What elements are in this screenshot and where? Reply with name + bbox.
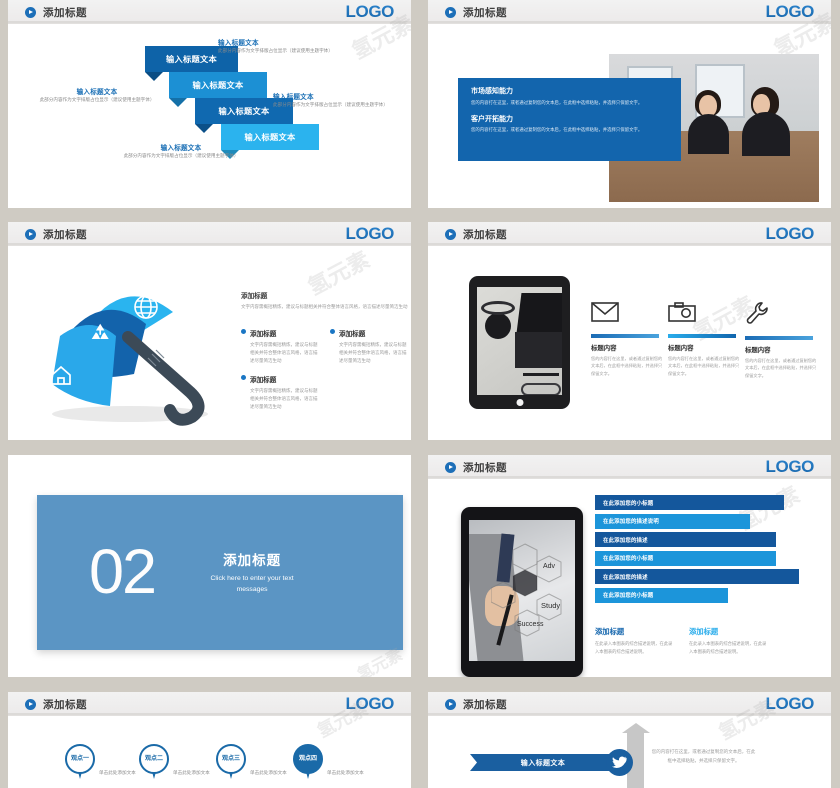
slide-body: 氢元素 — [428, 479, 831, 677]
chart-footnotes: 添加标题 在此录入本图表的综合描述说明，在此录入本图表的综合描述说明。 添加标题… — [595, 627, 767, 655]
capability-panel: 市场感知能力 您的内容打在这里，或者通过复制您的文本后，在此框中选择粘贴，并选择… — [458, 78, 681, 161]
pin-label: 观点四 — [293, 753, 323, 762]
tablet-screen — [477, 287, 562, 395]
slide-6-bar-chart[interactable]: 添加标题 LOGO 氢元素 — [428, 455, 831, 677]
slide-body: 氢元素 输入标题文本 输入标题文本 输入标题文本 输入标题文本 输入标题文本 此… — [8, 24, 411, 208]
bar-label: 在此添加您的描述说明 — [603, 517, 659, 525]
horizontal-bar-chart: 在此添加您的小标题 在此添加您的描述说明 在此添加您的描述 在此添加您的小标题 … — [595, 495, 810, 606]
slide-5-section-divider[interactable]: 02 添加标题 Click here to enter your text me… — [8, 455, 411, 677]
home-button[interactable] — [516, 399, 523, 406]
pin-caption-2: 单击此处添加文本 — [173, 770, 210, 776]
slide-header-bar: 添加标题 LOGO — [428, 222, 831, 246]
hexagon-network: Adv Study Success — [491, 538, 575, 658]
ribbon-description: 您的内容打在这里，或者通过复制您的文本后，在此框中选择粘贴，并选择只保留文字。 — [651, 748, 756, 765]
laptop-screen — [517, 293, 562, 333]
ribbon-banner[interactable]: 输入标题文本 — [470, 754, 616, 771]
logo: LOGO — [346, 694, 394, 714]
capability-title-2: 客户开拓能力 — [471, 114, 668, 124]
tablet-device: Adv Study Success — [461, 507, 583, 677]
icon-column-1[interactable]: 标题内容 您的内容打在这里，或者通过复制您的文本后，在此框中选择粘贴，并选择只保… — [591, 302, 663, 377]
capability-text-2: 您的内容打在这里，或者通过复制您的文本后，在此框中选择粘贴，并选择只保留文字。 — [471, 126, 668, 133]
header-underline — [428, 21, 831, 23]
chart-bar[interactable]: 在此添加您的小标题 — [595, 551, 776, 566]
bullet-item-3[interactable]: 添加标题 文字内容需概括精炼，建议与标题相关并符合整体语言风格，语言描述尽量简洁… — [241, 374, 319, 411]
page-title: 添加标题 — [463, 697, 507, 712]
pin-label: 观点二 — [139, 753, 169, 762]
pin-marker-4[interactable]: 观点四 — [293, 744, 323, 774]
slide-header-bar: 添加标题 LOGO — [8, 0, 411, 24]
chart-bar[interactable]: 在此添加您的小标题 — [595, 495, 784, 510]
bullet-item-2[interactable]: 添加标题 文字内容需概括精炼，建议与标题相关并符合整体语言风格，语言描述尽量简洁… — [330, 328, 408, 365]
chart-bar[interactable]: 在此添加您的描述 — [595, 569, 799, 584]
header-underline — [428, 243, 831, 245]
ribbon-fold — [195, 124, 213, 133]
play-circle-icon — [445, 229, 456, 240]
slide-header-bar: 添加标题 LOGO — [8, 222, 411, 246]
bullet-text: 文字内容需概括精炼，建议与标题相关并符合整体语言风格，语言描述尽量简洁生动 — [339, 341, 408, 365]
slide-body: 氢元素 市场感知能力 您的内容打在这里，或者通过复制您的文本后，在此框中选择粘贴… — [428, 24, 831, 208]
bar-label: 在此添加您的描述 — [603, 573, 648, 581]
page-title: 添加标题 — [43, 697, 87, 712]
logo: LOGO — [346, 2, 394, 22]
bullet-text: 文字内容需概括精炼，建议与标题相关并符合整体语言风格，语言描述尽量简洁生动 — [250, 341, 319, 365]
pin-label: 观点三 — [216, 753, 246, 762]
section-panel: 02 添加标题 Click here to enter your text me… — [37, 495, 403, 650]
lead-title: 添加标题 — [241, 290, 411, 300]
pen — [523, 373, 559, 376]
bullet-title: 添加标题 — [250, 374, 319, 384]
capability-text-1: 您的内容打在这里，或者通过复制您的文本后，在此框中选择粘贴，并选择只保留文字。 — [471, 99, 668, 106]
ribbon-fold — [169, 98, 187, 107]
bird-icon[interactable] — [606, 749, 633, 776]
header-underline — [428, 713, 831, 715]
umbrella-graphic — [30, 274, 235, 429]
person-a-body — [688, 114, 729, 154]
slide-4-three-icons[interactable]: 添加标题 LOGO 氢元素 — [428, 222, 831, 440]
bar-label: 在此添加您的小标题 — [603, 591, 653, 599]
tablet-device — [469, 276, 570, 409]
play-circle-icon — [25, 699, 36, 710]
logo: LOGO — [346, 224, 394, 244]
lead-text: 文字内容需概括精炼，建议与标题相关并符合整体语言风格，语言描述尽量简洁生动 — [241, 303, 411, 311]
column-title: 标题内容 — [745, 345, 817, 354]
glasses — [521, 383, 561, 395]
hex-word-study: Study — [541, 601, 560, 610]
section-text-group: 添加标题 Click here to enter your text messa… — [197, 549, 307, 596]
chart-bar[interactable]: 在此添加您的小标题 — [595, 588, 728, 603]
umbrella-lead-block: 添加标题 文字内容需概括精炼，建议与标题相关并符合整体语言风格，语言描述尽量简洁… — [241, 290, 411, 311]
accent-bar — [591, 334, 659, 338]
play-circle-icon — [25, 7, 36, 18]
bullet-title: 添加标题 — [339, 328, 408, 338]
bullet-dot-icon — [330, 329, 335, 334]
bullet-item-1[interactable]: 添加标题 文字内容需概括精炼，建议与标题相关并符合整体语言风格，语言描述尽量简洁… — [241, 328, 319, 365]
ribbon-fold — [145, 72, 163, 81]
pin-marker-3[interactable]: 观点三 — [216, 744, 246, 774]
bullet-title: 添加标题 — [250, 328, 319, 338]
icon-column-2[interactable]: 标题内容 您的内容打在这里，或者通过复制您的文本后，在此框中选择粘贴，并选择只保… — [668, 302, 740, 377]
slide-1-staircase[interactable]: 添加标题 LOGO 氢元素 输入标题文本 输入标题文本 输入标题文本 输入标题文… — [8, 0, 411, 208]
slide-2-photo-panel[interactable]: 添加标题 LOGO 氢元素 市场感知能力 您的内容打在这里，或者通过复制您的文本… — [428, 0, 831, 208]
column-title: 标题内容 — [591, 343, 663, 352]
pin-caption-4: 单击此处添加文本 — [327, 770, 364, 776]
section-number: 02 — [89, 541, 155, 604]
slide-8-ribbon[interactable]: 添加标题 LOGO 氢元素 输入标题文本 您的内容打在这里，或者通过复制您的文本… — [428, 692, 831, 788]
column-text: 您的内容打在这里，或者通过复制您的文本后，在此框中选择粘贴，并选择只保留文字。 — [668, 355, 740, 377]
bullet-dot-icon — [241, 375, 246, 380]
column-title: 标题内容 — [668, 343, 740, 352]
logo: LOGO — [766, 224, 814, 244]
hex-word-adv: Adv — [543, 563, 556, 570]
header-underline — [428, 476, 831, 478]
ribbon-label: 输入标题文本 — [193, 79, 244, 91]
footnote-1: 添加标题 在此录入本图表的综合描述说明，在此录入本图表的综合描述说明。 — [595, 627, 673, 655]
caption-title-2: 输入标题文本 — [39, 86, 155, 96]
bar-label: 在此添加您的描述 — [603, 536, 648, 544]
play-circle-icon — [25, 229, 36, 240]
ribbon-label: 输入标题文本 — [245, 131, 296, 143]
person-b-body — [742, 112, 790, 156]
capability-title-1: 市场感知能力 — [471, 86, 668, 96]
camera-icon — [668, 302, 696, 322]
slide-body: 氢元素 输入标题文本 您的内容打在这里，或者通过复制您的文本后，在此框中选择粘贴… — [428, 716, 831, 788]
slide-7-pins[interactable]: 添加标题 LOGO 氢元素 观点一 单击此处添加文本 观点二 单击此处添加文本 … — [8, 692, 411, 788]
caption-title-3: 输入标题文本 — [273, 91, 393, 101]
column-text: 您的内容打在这里，或者通过复制您的文本后，在此框中选择粘贴，并选择只保留文字。 — [591, 355, 663, 377]
envelope-icon — [591, 302, 619, 322]
hex-word-success: Success — [517, 621, 544, 628]
page-title: 添加标题 — [463, 5, 507, 20]
ribbon-label: 输入标题文本 — [166, 53, 217, 65]
caption-text-3: 此部分内容作为文字排版占位显示（建议使用主题字体） — [273, 101, 389, 109]
page-title: 添加标题 — [43, 5, 87, 20]
tablet-screen: Adv Study Success — [469, 520, 575, 661]
logo: LOGO — [766, 694, 814, 714]
ribbon-label: 输入标题文本 — [521, 758, 565, 768]
slide-grid: 添加标题 LOGO 氢元素 输入标题文本 输入标题文本 输入标题文本 输入标题文… — [0, 0, 840, 788]
slide-header-bar: 添加标题 LOGO — [428, 692, 831, 716]
footnote-title: 添加标题 — [689, 627, 767, 637]
page-title: 添加标题 — [463, 460, 507, 475]
pin-label: 观点一 — [65, 753, 95, 762]
slide-3-umbrella[interactable]: 添加标题 LOGO 氢元素 — [8, 222, 411, 440]
footnote-text: 在此录入本图表的综合描述说明，在此录入本图表的综合描述说明。 — [595, 640, 673, 655]
slide-header-bar: 添加标题 LOGO — [428, 455, 831, 479]
slide-header-bar: 添加标题 LOGO — [428, 0, 831, 24]
accent-bar — [668, 334, 736, 338]
caption-text-4: 此部分内容作为文字排版占位显示（建议使用主题字体） — [123, 152, 239, 160]
chart-bar[interactable]: 在此添加您的描述说明 — [595, 514, 750, 529]
icon-column-3[interactable]: 标题内容 您的内容打在这里，或者通过复制您的文本后，在此框中选择粘贴，并选择只保… — [745, 302, 817, 379]
logo: LOGO — [766, 2, 814, 22]
camera-lens — [485, 313, 511, 339]
play-circle-icon — [445, 7, 456, 18]
caption-text-1: 此部分内容作为文字排版占位显示（建议使用主题字体） — [218, 47, 334, 55]
ribbon-label: 输入标题文本 — [219, 105, 270, 117]
logo: LOGO — [766, 457, 814, 477]
column-text: 您的内容打在这里，或者通过复制您的文本后，在此框中选择粘贴，并选择只保留文字。 — [745, 357, 817, 379]
ribbon-step-2[interactable]: 输入标题文本 — [169, 72, 267, 98]
accent-bar — [745, 336, 813, 340]
header-underline — [8, 21, 411, 23]
footnote-title: 添加标题 — [595, 627, 673, 637]
bullet-dot-icon — [241, 329, 246, 334]
slide-header-bar: 添加标题 LOGO — [8, 692, 411, 716]
chart-bar[interactable]: 在此添加您的描述 — [595, 532, 776, 547]
pin-marker-1[interactable]: 观点一 — [65, 744, 95, 774]
header-underline — [8, 243, 411, 245]
pin-caption-3: 单击此处添加文本 — [250, 770, 287, 776]
play-circle-icon — [445, 462, 456, 473]
section-title: 添加标题 — [197, 549, 307, 569]
section-subtitle: Click here to enter your text messages — [197, 574, 307, 596]
bullet-text: 文字内容需概括精炼，建议与标题相关并符合整体语言风格，语言描述尽量简洁生动 — [250, 387, 319, 411]
slide-body: 02 添加标题 Click here to enter your text me… — [8, 455, 411, 677]
laptop-keyboard — [515, 332, 562, 368]
page-title: 添加标题 — [463, 227, 507, 242]
slide-body: 氢元素 标题内容 您的内容打在这里，或 — [428, 246, 831, 440]
pin-caption-1: 单击此处添加文本 — [99, 770, 136, 776]
caption-title-1: 输入标题文本 — [218, 37, 338, 47]
slide-body: 氢元素 观点一 单击此处添加文本 观点二 单击此处添加文本 观点三 单击此处添加… — [8, 716, 411, 788]
pin-marker-2[interactable]: 观点二 — [139, 744, 169, 774]
caption-title-4: 输入标题文本 — [123, 142, 239, 152]
play-circle-icon — [445, 699, 456, 710]
bar-label: 在此添加您的小标题 — [603, 499, 653, 507]
page-title: 添加标题 — [43, 227, 87, 242]
wrench-icon — [745, 302, 769, 324]
bar-label: 在此添加您的小标题 — [603, 554, 653, 562]
header-underline — [8, 713, 411, 715]
slide-body: 氢元素 — [8, 246, 411, 440]
caption-text-2: 此部分内容作为文字排版占位显示（建议使用主题字体） — [39, 96, 155, 104]
headphone-band — [481, 301, 515, 315]
footnote-2: 添加标题 在此录入本图表的综合描述说明，在此录入本图表的综合描述说明。 — [689, 627, 767, 655]
footnote-text: 在此录入本图表的综合描述说明，在此录入本图表的综合描述说明。 — [689, 640, 767, 655]
